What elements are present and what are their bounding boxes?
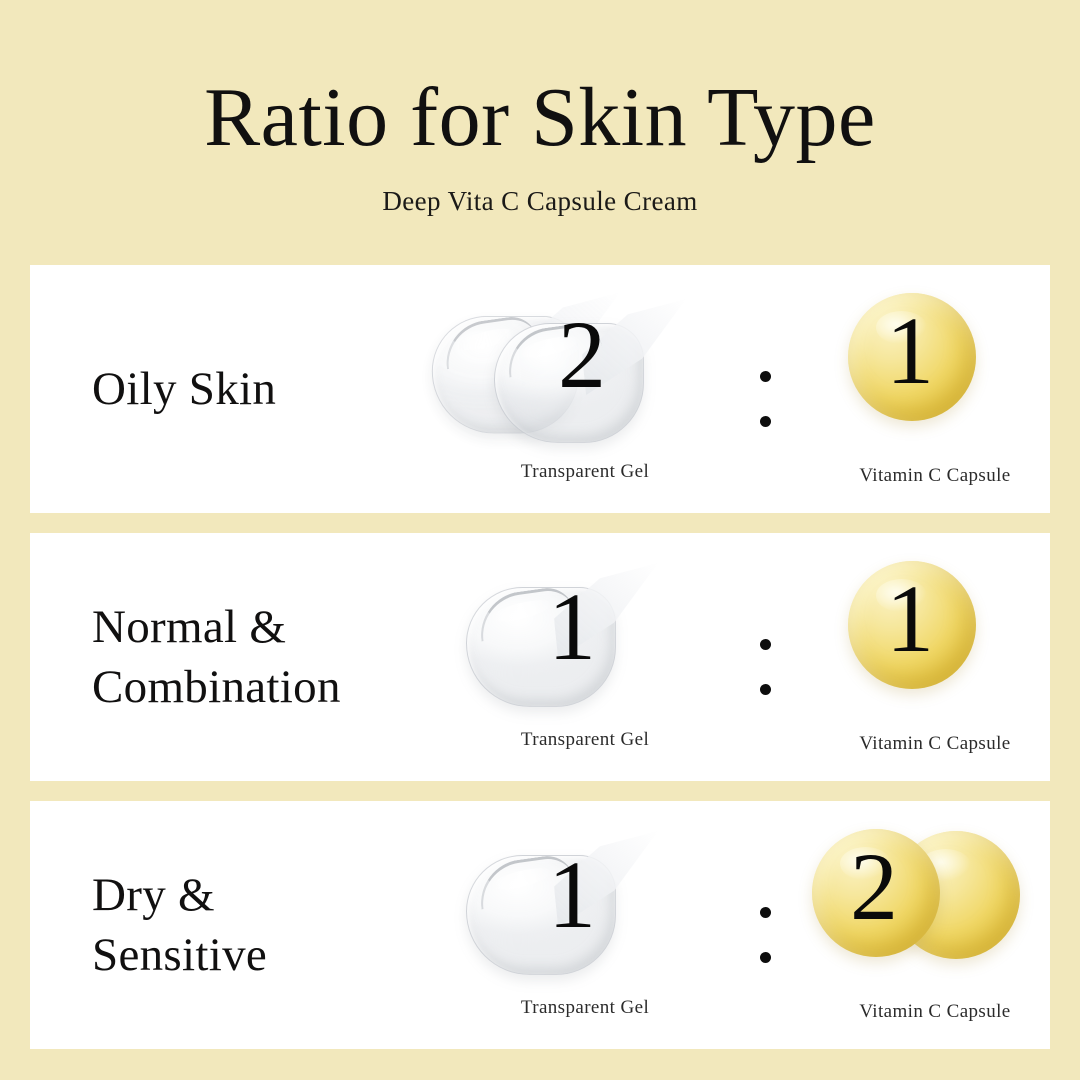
skin-type-label: Normal & Combination — [92, 533, 422, 781]
gel-caption: Transparent Gel — [430, 729, 740, 751]
ratio-rows-container: Oily Skin 2 Transparent Gel — [30, 265, 1050, 1049]
colon-dot-top — [760, 639, 771, 650]
capsule-count-number: 1 — [886, 571, 934, 667]
capsule-group: 2 Vitamin C Capsule — [790, 801, 1050, 1049]
ratio-row: Oily Skin 2 Transparent Gel — [30, 265, 1050, 513]
colon-dot-bottom — [760, 416, 771, 427]
gel-illustration: 1 — [430, 817, 740, 987]
page-header: Ratio for Skin Type Deep Vita C Capsule … — [0, 0, 1080, 217]
capsule-illustration: 1 — [790, 287, 1050, 447]
capsule-group: 1 Vitamin C Capsule — [790, 265, 1050, 513]
capsule-illustration: 2 — [790, 823, 1050, 983]
gel-caption: Transparent Gel — [430, 461, 740, 483]
gel-group: 2 Transparent Gel — [430, 265, 740, 513]
gel-illustration: 1 — [430, 549, 740, 719]
skin-type-label: Oily Skin — [92, 265, 422, 513]
ratio-row: Dry & Sensitive 1 Transparent Gel — [30, 801, 1050, 1049]
skin-type-label: Dry & Sensitive — [92, 801, 422, 1049]
gel-count-number: 2 — [558, 307, 606, 403]
capsule-caption: Vitamin C Capsule — [790, 465, 1050, 487]
page-title: Ratio for Skin Type — [0, 74, 1080, 162]
capsule-group: 1 Vitamin C Capsule — [790, 533, 1050, 781]
capsule-count-number: 2 — [850, 839, 898, 935]
colon-dot-bottom — [760, 952, 771, 963]
colon-dot-top — [760, 907, 771, 918]
page-subtitle: Deep Vita C Capsule Cream — [0, 186, 1080, 217]
colon-dot-bottom — [760, 684, 771, 695]
capsule-illustration: 1 — [790, 555, 1050, 715]
gel-group: 1 Transparent Gel — [430, 533, 740, 781]
ratio-separator — [758, 639, 772, 695]
capsule-caption: Vitamin C Capsule — [790, 733, 1050, 755]
ratio-separator — [758, 907, 772, 963]
gel-caption: Transparent Gel — [430, 997, 740, 1019]
gel-illustration: 2 — [430, 281, 740, 451]
ratio-row: Normal & Combination 1 Transparent Gel — [30, 533, 1050, 781]
gel-group: 1 Transparent Gel — [430, 801, 740, 1049]
capsule-count-number: 1 — [886, 303, 934, 399]
ratio-separator — [758, 371, 772, 427]
gel-count-number: 1 — [548, 579, 596, 675]
colon-dot-top — [760, 371, 771, 382]
gel-count-number: 1 — [548, 847, 596, 943]
capsule-caption: Vitamin C Capsule — [790, 1001, 1050, 1023]
